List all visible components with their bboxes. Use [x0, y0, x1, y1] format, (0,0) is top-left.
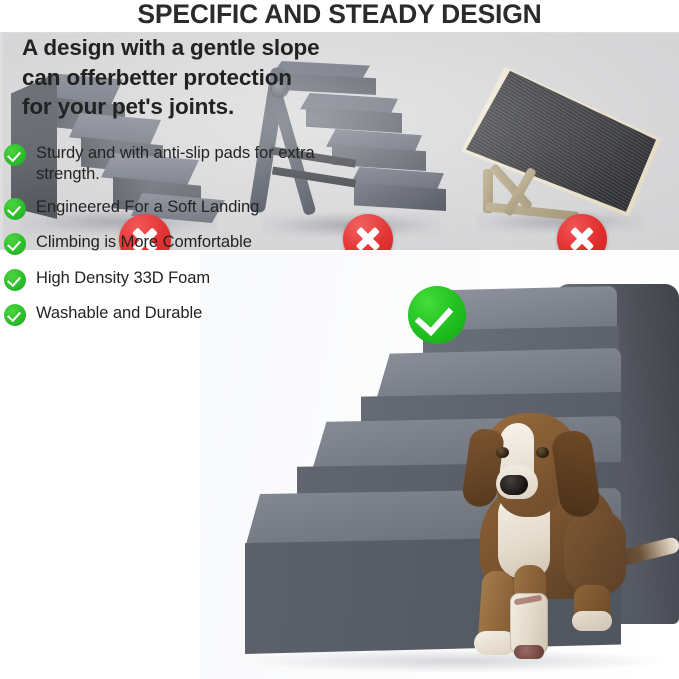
dog-haunch [564, 509, 626, 595]
bullet-label: Washable and Durable [36, 303, 202, 324]
green-check-icon [4, 269, 26, 291]
beagle-dog-photo [452, 413, 676, 679]
list-item: Engineered For a Soft Landing [4, 197, 344, 220]
green-check-icon [4, 304, 26, 326]
dog-hind-paw [572, 611, 612, 631]
page-title: SPECIFIC AND STEADY DESIGN [0, 0, 679, 29]
list-item: Washable and Durable [4, 303, 344, 326]
headline-line-2: can offerbetter protection [22, 63, 352, 93]
bullet-label: Engineered For a Soft Landing [36, 197, 259, 218]
list-item: High Density 33D Foam [4, 268, 344, 291]
headline-line-3: for your pet's joints. [22, 92, 352, 122]
headline-line-1: A design with a gentle slope [22, 33, 352, 63]
dog-eye-left [496, 447, 509, 458]
bullet-label: Sturdy and with anti-slip pads for extra… [36, 143, 336, 184]
list-item: Sturdy and with anti-slip pads for extra… [4, 143, 344, 184]
bullet-label: Climbing is More Comfortable [36, 232, 252, 253]
product-image-wooden-ramp [455, 61, 665, 243]
dog-eye-right [536, 447, 549, 458]
green-check-icon [4, 198, 26, 220]
feature-headline: A design with a gentle slope can offerbe… [22, 33, 352, 122]
feature-bullet-list: Sturdy and with anti-slip pads for extra… [4, 143, 344, 339]
dog-nose [500, 475, 528, 495]
green-check-icon [408, 286, 466, 344]
green-check-icon [4, 233, 26, 255]
green-check-icon [4, 144, 26, 166]
list-item: Climbing is More Comfortable [4, 232, 344, 255]
bandaged-paw-tip [514, 645, 544, 659]
bullet-label: High Density 33D Foam [36, 268, 210, 289]
